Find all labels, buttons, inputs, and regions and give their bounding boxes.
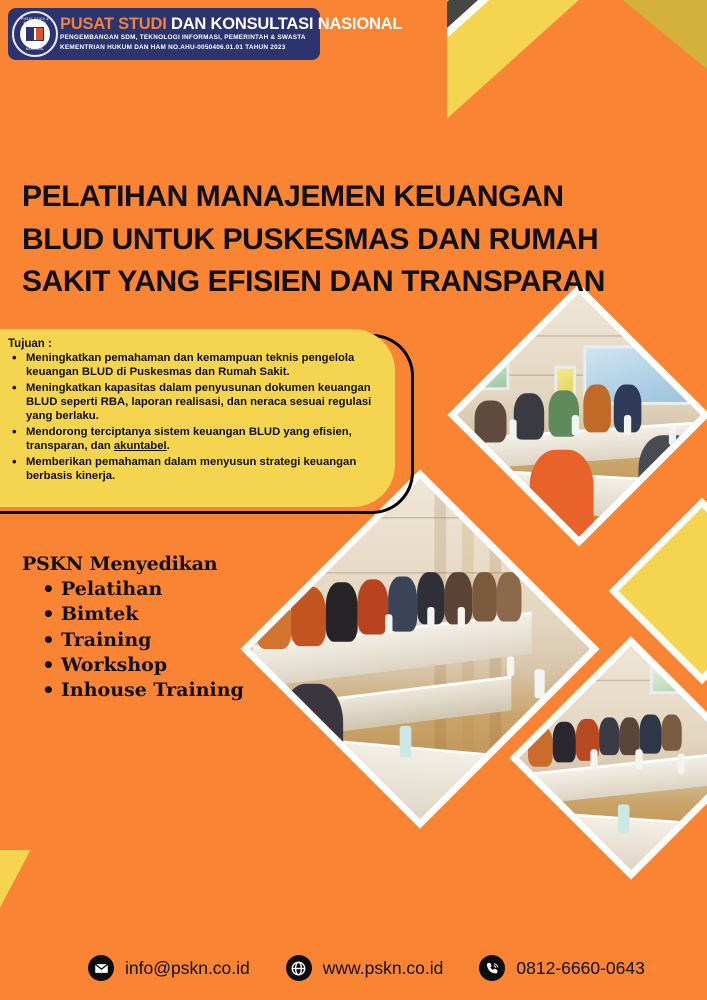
- service-item: Pelatihan: [42, 577, 244, 602]
- service-item: Bimtek: [42, 602, 244, 627]
- org-header-text: PUSAT STUDI DAN KONSULTASI NASIONAL PENG…: [60, 16, 408, 52]
- contact-email[interactable]: info@pskn.co.id: [88, 955, 250, 981]
- website-text: www.pskn.co.id: [323, 958, 444, 979]
- globe-icon: [286, 955, 312, 981]
- book-icon: [26, 27, 44, 41]
- poster-root: PUSAT STUDI & KONSULTASI NASIONAL PUSAT …: [0, 0, 707, 1000]
- phone-icon: [479, 955, 505, 981]
- services-list: Pelatihan Bimtek Training Workshop Inhou…: [22, 577, 244, 703]
- tujuan-list: Meningkatkan pemahaman dan kemampuan tek…: [8, 351, 379, 483]
- org-header-banner: PUSAT STUDI & KONSULTASI NASIONAL PUSAT …: [8, 8, 320, 60]
- poster-title: PELATIHAN MANAJEMEN KEUANGAN BLUD UNTUK …: [22, 176, 642, 304]
- services-heading: PSKN Menyedikan: [22, 553, 244, 575]
- service-item: Training: [42, 628, 244, 653]
- phone-text: 0812-6660-0643: [516, 958, 644, 979]
- tujuan-box: Tujuan : Meningkatkan pemahaman dan kema…: [0, 329, 395, 507]
- pskn-logo-seal: PUSAT STUDI & KONSULTASI NASIONAL: [12, 11, 58, 57]
- org-subtitle-scope: PENGEMBANGAN SDM, TEKNOLOGI INFORMASI, P…: [60, 33, 402, 42]
- tujuan-label: Tujuan :: [8, 338, 379, 350]
- contact-website[interactable]: www.pskn.co.id: [286, 955, 444, 981]
- tujuan-item: Mendorong terciptanya sistem keuangan BL…: [8, 425, 379, 453]
- tujuan-item: Memberikan pemahaman dalam menyusun stra…: [8, 455, 379, 483]
- tujuan-underlined-word: akuntabel: [114, 440, 167, 452]
- photo-training-room-top: [447, 283, 707, 546]
- services-section: PSKN Menyedikan Pelatihan Bimtek Trainin…: [22, 553, 244, 703]
- seal-bottom-text: NASIONAL: [14, 47, 56, 51]
- service-item: Workshop: [42, 653, 244, 678]
- org-name-part-orange: PUSAT STUDI: [60, 15, 167, 33]
- tujuan-item: Meningkatkan pemahaman dan kemampuan tek…: [8, 351, 379, 379]
- service-item: Inhouse Training: [42, 678, 244, 703]
- org-name: PUSAT STUDI DAN KONSULTASI NASIONAL: [60, 16, 402, 33]
- contact-list: info@pskn.co.id www.pskn.co.id 0812-6660…: [88, 955, 681, 981]
- org-legal-registration: KEMENTRIAN HUKUM DAN HAM NO.AHU-0050406.…: [60, 43, 402, 52]
- contact-phone[interactable]: 0812-6660-0643: [479, 955, 644, 981]
- tujuan-item: Meningkatkan kapasitas dalam penyusunan …: [8, 381, 379, 424]
- seal-top-text: PUSAT STUDI & KONSULTASI: [14, 17, 56, 25]
- envelope-icon: [88, 955, 114, 981]
- footer-contact-bar: info@pskn.co.id www.pskn.co.id 0812-6660…: [0, 914, 707, 1000]
- email-text: info@pskn.co.id: [125, 958, 250, 979]
- tujuan-item-text-3: Mendorong terciptanya sistem keuangan BL…: [26, 426, 352, 452]
- org-name-part-white: DAN KONSULTASI NASIONAL: [167, 15, 403, 33]
- photo-content: [454, 290, 703, 539]
